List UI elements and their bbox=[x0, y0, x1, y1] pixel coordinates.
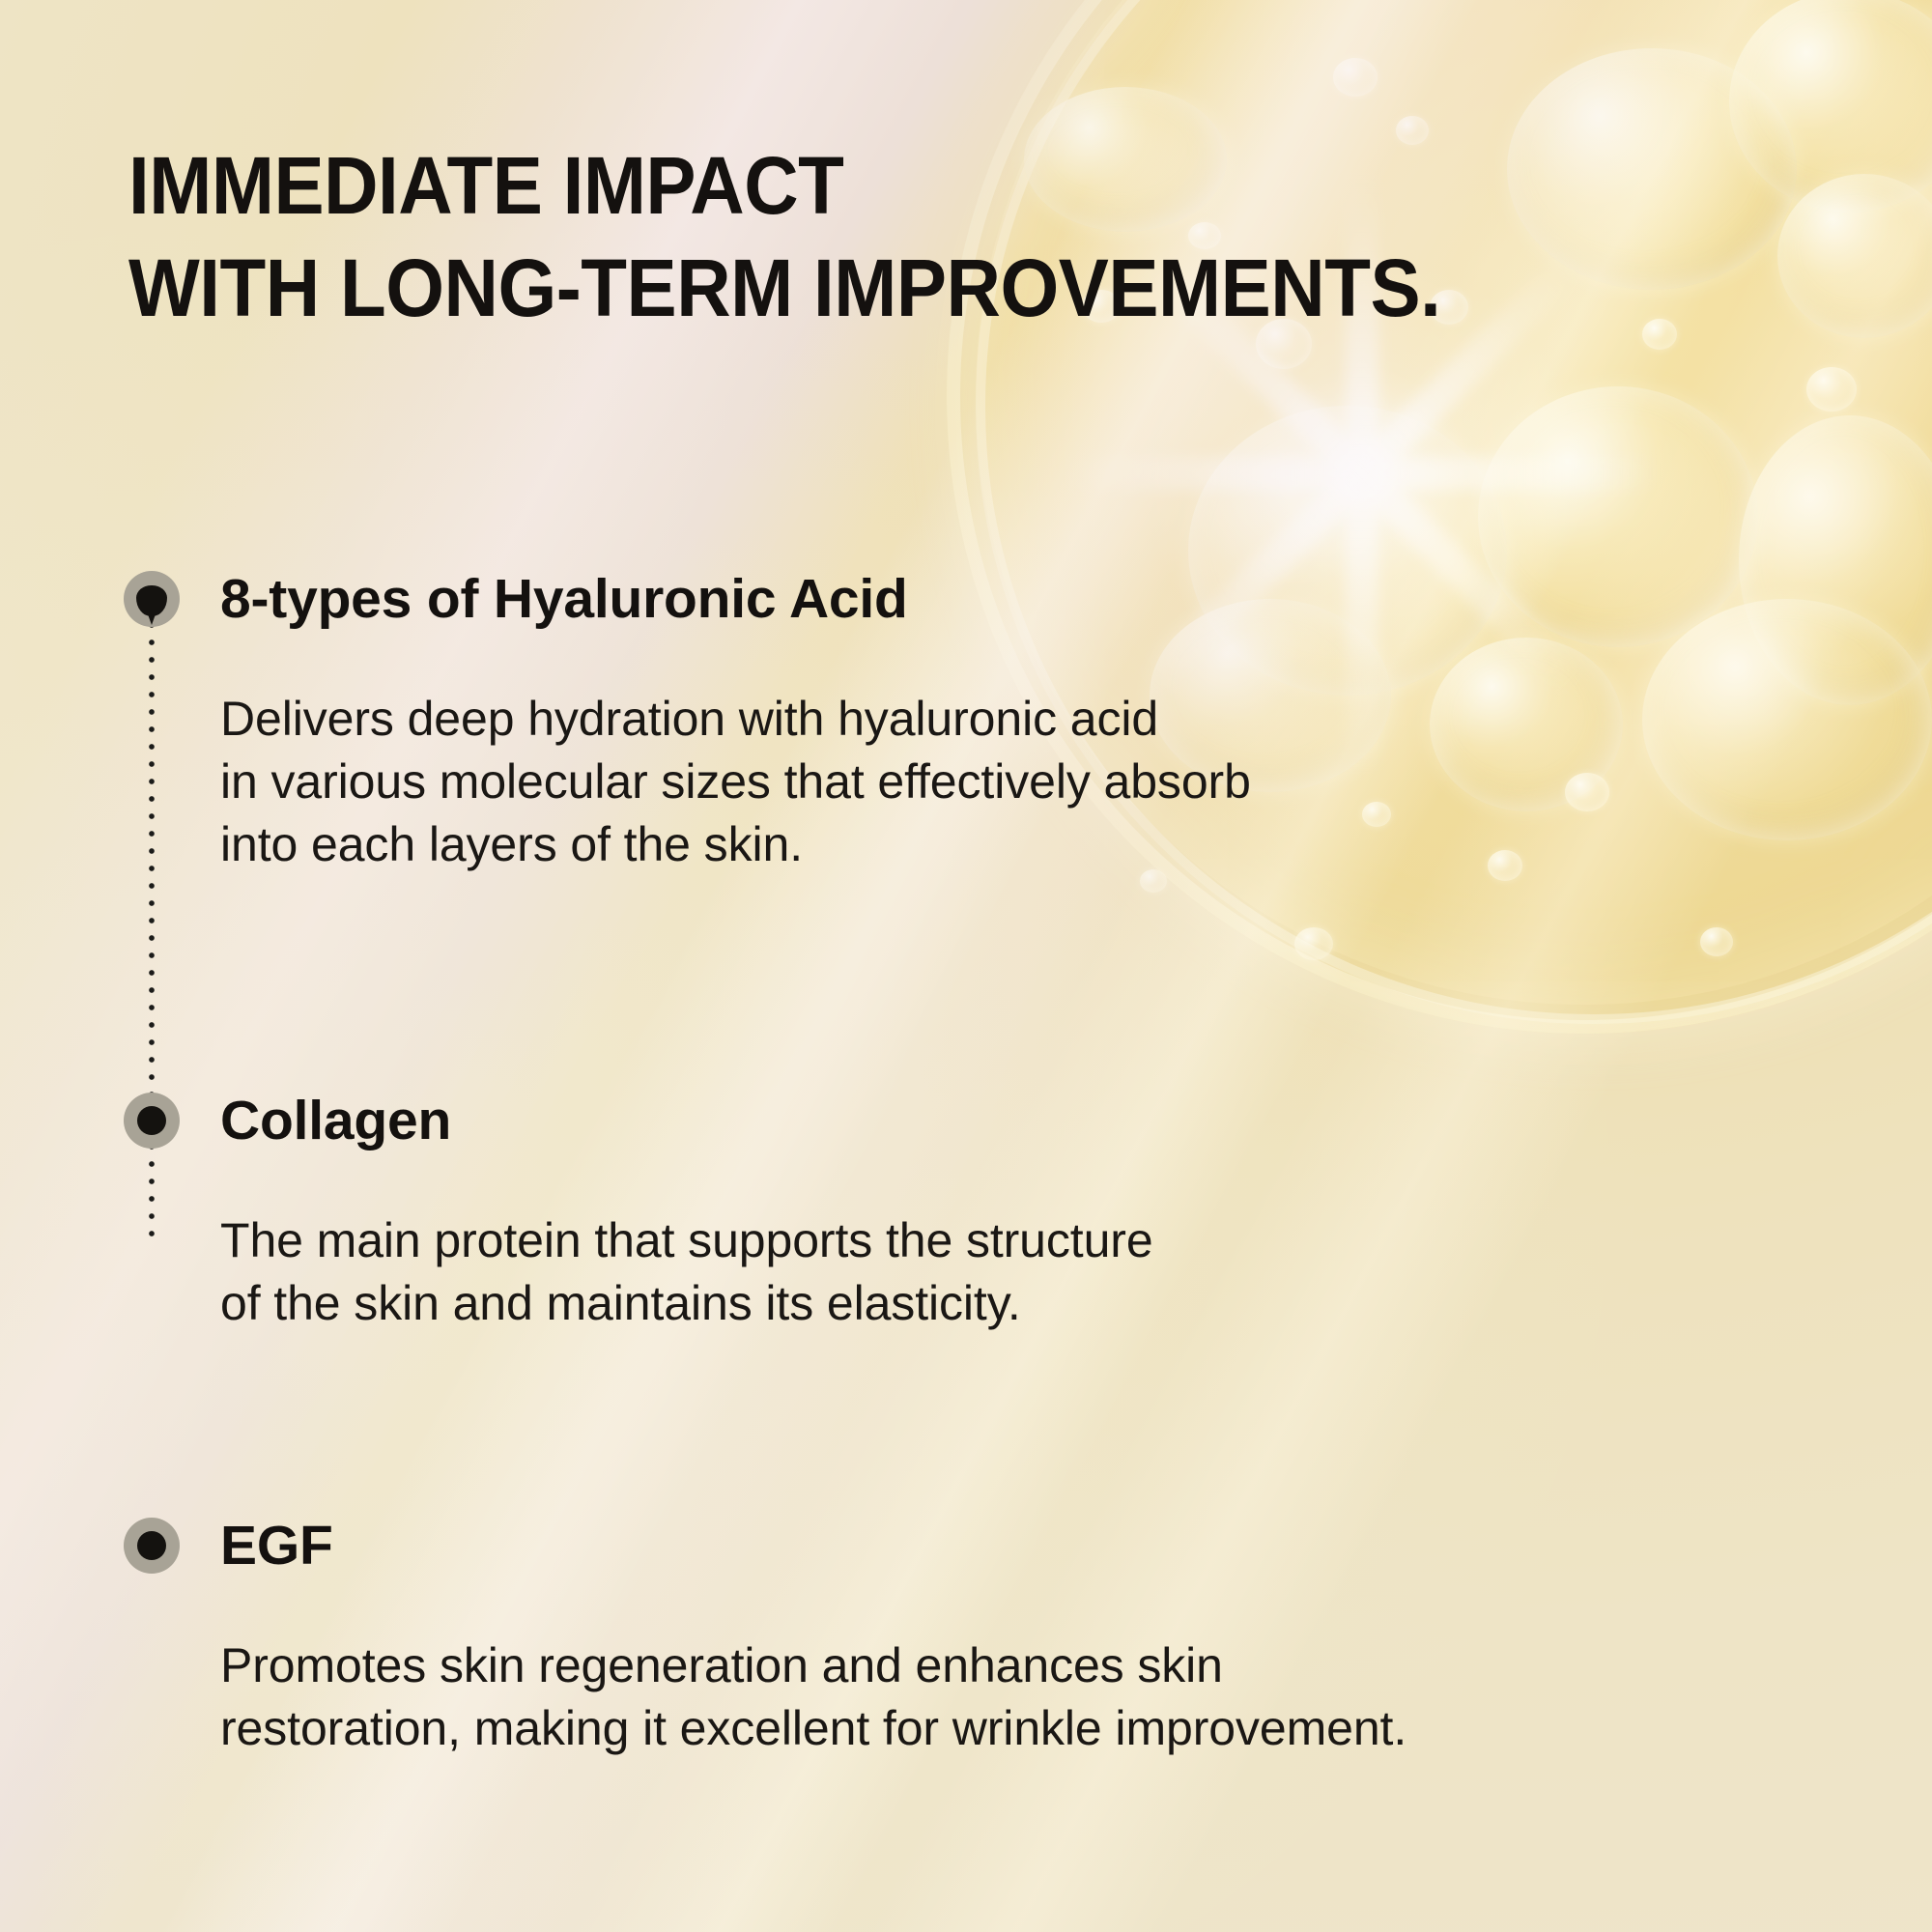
marker-core bbox=[137, 1531, 166, 1560]
marker-core bbox=[137, 1106, 166, 1135]
feature-title: EGF bbox=[220, 1519, 333, 1574]
page-title: IMMEDIATE IMPACT WITH LONG-TERM IMPROVEM… bbox=[128, 135, 1656, 340]
feature-title: Collagen bbox=[220, 1094, 451, 1149]
feature-title: 8-types of Hyaluronic Acid bbox=[220, 572, 908, 627]
marker-core bbox=[136, 585, 167, 616]
infographic-canvas: IMMEDIATE IMPACT WITH LONG-TERM IMPROVEM… bbox=[0, 0, 1932, 1932]
pin-marker-icon bbox=[124, 571, 180, 627]
content-layer: IMMEDIATE IMPACT WITH LONG-TERM IMPROVEM… bbox=[0, 0, 1932, 1932]
dot-marker-icon bbox=[124, 1518, 180, 1574]
feature-description: The main protein that supports the struc… bbox=[220, 1209, 1153, 1335]
feature-description: Delivers deep hydration with hyaluronic … bbox=[220, 688, 1251, 876]
dot-marker-icon bbox=[124, 1093, 180, 1149]
feature-description: Promotes skin regeneration and enhances … bbox=[220, 1634, 1406, 1760]
